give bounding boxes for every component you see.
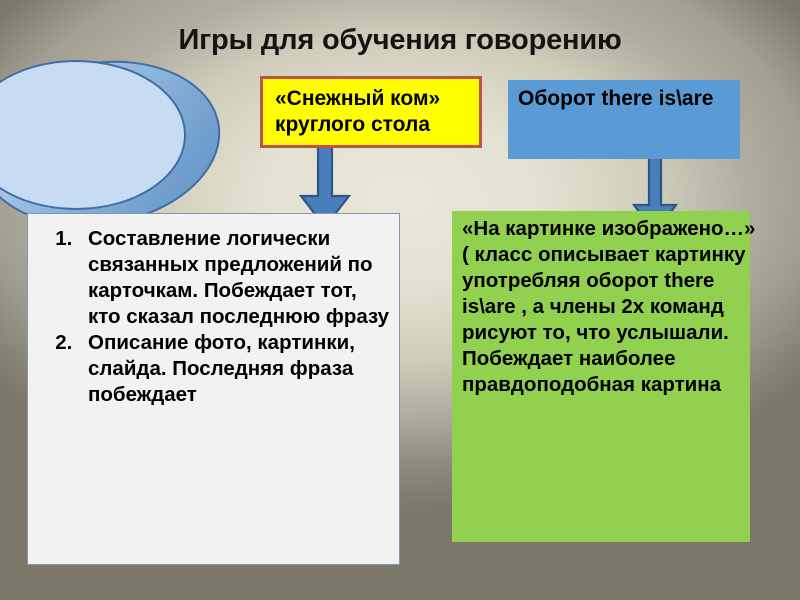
list-item: Составление логически связанных предложе… [78,226,393,330]
numbered-list: Составление логически связанных предложе… [32,226,393,407]
slide-canvas: Игры для обучения говорению «Снежный ком… [0,0,800,600]
list-item: Описание фото, картинки, слайда. Последн… [78,330,393,408]
right-content-text: «На картинке изображено…» ( класс описыв… [462,216,758,397]
callout-yellow-snowball: «Снежный ком» круглого стола [260,76,482,148]
page-title: Игры для обучения говорению [0,24,800,57]
callout-blue-there-is-are: Оборот there is\are [508,80,740,159]
left-content-panel: Составление логически связанных предложе… [27,213,400,565]
